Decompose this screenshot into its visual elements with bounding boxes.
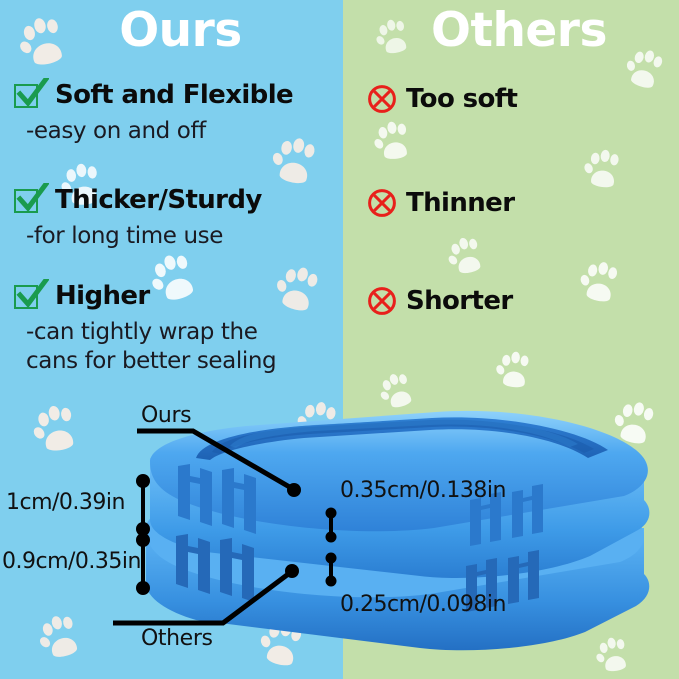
dim-dot <box>326 576 337 587</box>
dimension-label-ours-thickness: 0.35cm/0.138in <box>340 478 506 503</box>
dim-dot <box>326 553 337 564</box>
dim-dot <box>136 533 150 547</box>
dim-dot <box>326 532 337 543</box>
dim-dot <box>326 508 337 519</box>
dim-dot <box>136 581 150 595</box>
callout-label-others: Others <box>141 626 213 651</box>
callout-dot-ours <box>287 483 301 497</box>
dimension-label-others-height: 0.9cm/0.35in <box>2 549 141 574</box>
callout-dot-others <box>285 564 299 578</box>
comparison-infographic: Ours <box>0 0 679 679</box>
callout-label-ours: Ours <box>141 403 191 428</box>
dim-dot <box>136 474 150 488</box>
product-illustration <box>0 0 679 679</box>
dimension-label-others-thickness: 0.25cm/0.098in <box>340 592 506 617</box>
dimension-label-ours-height: 1cm/0.39in <box>6 490 125 515</box>
